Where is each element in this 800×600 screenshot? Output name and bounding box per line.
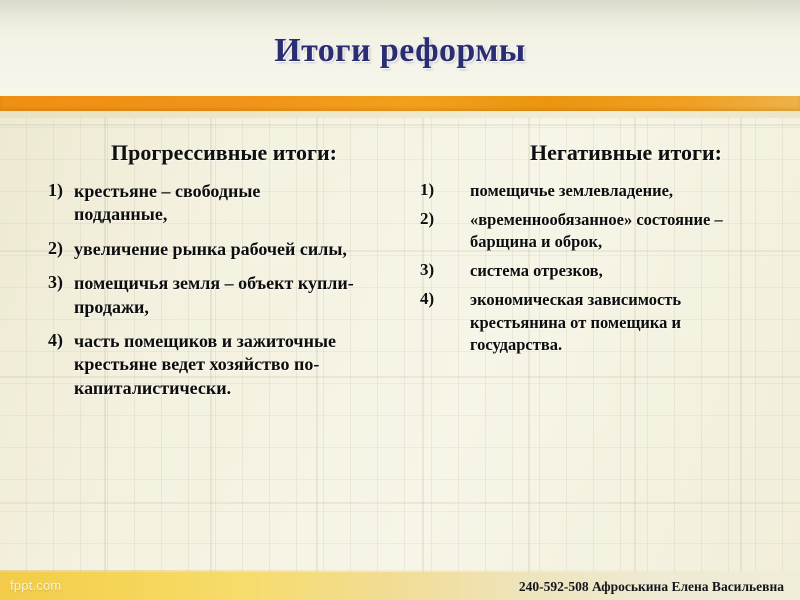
- negative-results-list: 1) помещичье землевладение, 2) «временно…: [408, 180, 790, 356]
- list-item-number: 4): [408, 289, 470, 309]
- orange-accent-bar: [0, 96, 800, 111]
- list-item-text: экономическая зависимость крестьянина от…: [470, 289, 770, 355]
- list-item: 4) экономическая зависимость крестьянина…: [408, 289, 790, 355]
- list-item: 2) увеличение рынка рабочей силы,: [22, 238, 390, 261]
- list-item-text: «временнообязанное» состояние – барщина …: [470, 209, 770, 253]
- column-heading-negative: Негативные итоги:: [408, 140, 790, 166]
- page-title: Итоги реформы: [0, 32, 800, 70]
- list-item-text: помещичье землевладение,: [470, 180, 770, 202]
- list-item: 2) «временнообязанное» состояние – барщи…: [408, 209, 790, 253]
- list-item-number: 4): [22, 330, 74, 351]
- tan-accent-strip: [0, 111, 800, 118]
- column-heading-progressive: Прогрессивные итоги:: [22, 140, 390, 166]
- list-item-number: 3): [22, 272, 74, 293]
- list-item: 3) помещичья земля – объект купли-продаж…: [22, 272, 390, 319]
- list-item: 1) крестьяне – свободные подданные,: [22, 180, 390, 227]
- author-credit: 240-592-508 Афроськина Елена Васильевна: [519, 579, 784, 595]
- content-columns: Прогрессивные итоги: 1) крестьяне – своб…: [0, 140, 800, 411]
- list-item-number: 2): [408, 209, 470, 229]
- column-negative: Негативные итоги: 1) помещичье землевлад…: [400, 140, 800, 363]
- list-item: 1) помещичье землевладение,: [408, 180, 790, 202]
- progressive-results-list: 1) крестьяне – свободные подданные, 2) у…: [22, 180, 390, 400]
- list-item: 4) часть помещиков и зажиточные крестьян…: [22, 330, 390, 400]
- slide: Итоги реформы Прогрессивные итоги: 1) кр…: [0, 0, 800, 600]
- list-item-number: 1): [22, 180, 74, 201]
- list-item-number: 2): [22, 238, 74, 259]
- list-item-text: крестьяне – свободные подданные,: [74, 180, 354, 227]
- list-item-number: 1): [408, 180, 470, 200]
- list-item-text: система отрезков,: [470, 260, 770, 282]
- list-item-text: помещичья земля – объект купли-продажи,: [74, 272, 354, 319]
- list-item-number: 3): [408, 260, 470, 280]
- list-item-text: часть помещиков и зажиточные крестьяне в…: [74, 330, 354, 400]
- fppt-watermark: fppt.com: [10, 578, 61, 593]
- list-item: 3) система отрезков,: [408, 260, 790, 282]
- list-item-text: увеличение рынка рабочей силы,: [74, 238, 354, 261]
- column-progressive: Прогрессивные итоги: 1) крестьяне – своб…: [0, 140, 400, 411]
